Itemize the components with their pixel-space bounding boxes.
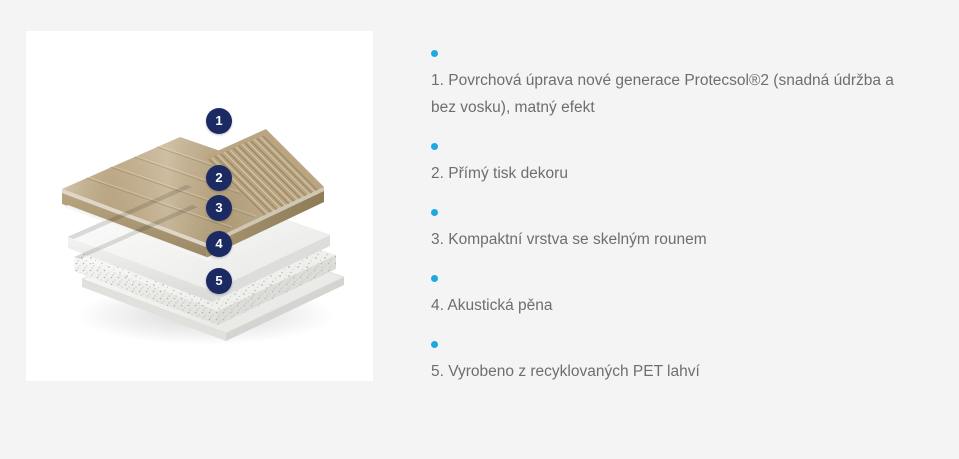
bullet-dot-icon <box>431 209 438 216</box>
product-layers-section: 1 2 3 4 5 1. Povrchová úprava nové gener… <box>0 0 959 459</box>
list-item-label: 2. Přímý tisk dekoru <box>431 160 918 187</box>
bullet-dot-icon <box>431 341 438 348</box>
bullet-dot-icon <box>431 50 438 57</box>
list-item-label: 5. Vyrobeno z recyklovaných PET lahví <box>431 358 918 385</box>
bullet-dot-icon <box>431 275 438 282</box>
list-item: 3. Kompaktní vrstva se skelným rounem <box>431 209 918 253</box>
list-item-label: 1. Povrchová úprava nové generace Protec… <box>431 67 918 121</box>
flooring-cross-section-graphic <box>26 31 373 381</box>
list-item: 4. Akustická pěna <box>431 275 918 319</box>
bullet-dot-icon <box>431 143 438 150</box>
list-item-label: 4. Akustická pěna <box>431 292 918 319</box>
exploded-flooring-illustration: 1 2 3 4 5 <box>26 31 373 381</box>
layer-badge-2: 2 <box>206 165 232 191</box>
list-item: 1. Povrchová úprava nové generace Protec… <box>431 50 918 121</box>
product-image-card: 1 2 3 4 5 <box>26 31 373 381</box>
layer-badge-1: 1 <box>206 108 232 134</box>
layer-badge-5: 5 <box>206 268 232 294</box>
list-item: 5. Vyrobeno z recyklovaných PET lahví <box>431 341 918 385</box>
list-item: 2. Přímý tisk dekoru <box>431 143 918 187</box>
layer-description-list: 1. Povrchová úprava nové generace Protec… <box>431 50 918 385</box>
list-item-label: 3. Kompaktní vrstva se skelným rounem <box>431 226 918 253</box>
layer-badge-3: 3 <box>206 195 232 221</box>
layer-badge-4: 4 <box>206 231 232 257</box>
